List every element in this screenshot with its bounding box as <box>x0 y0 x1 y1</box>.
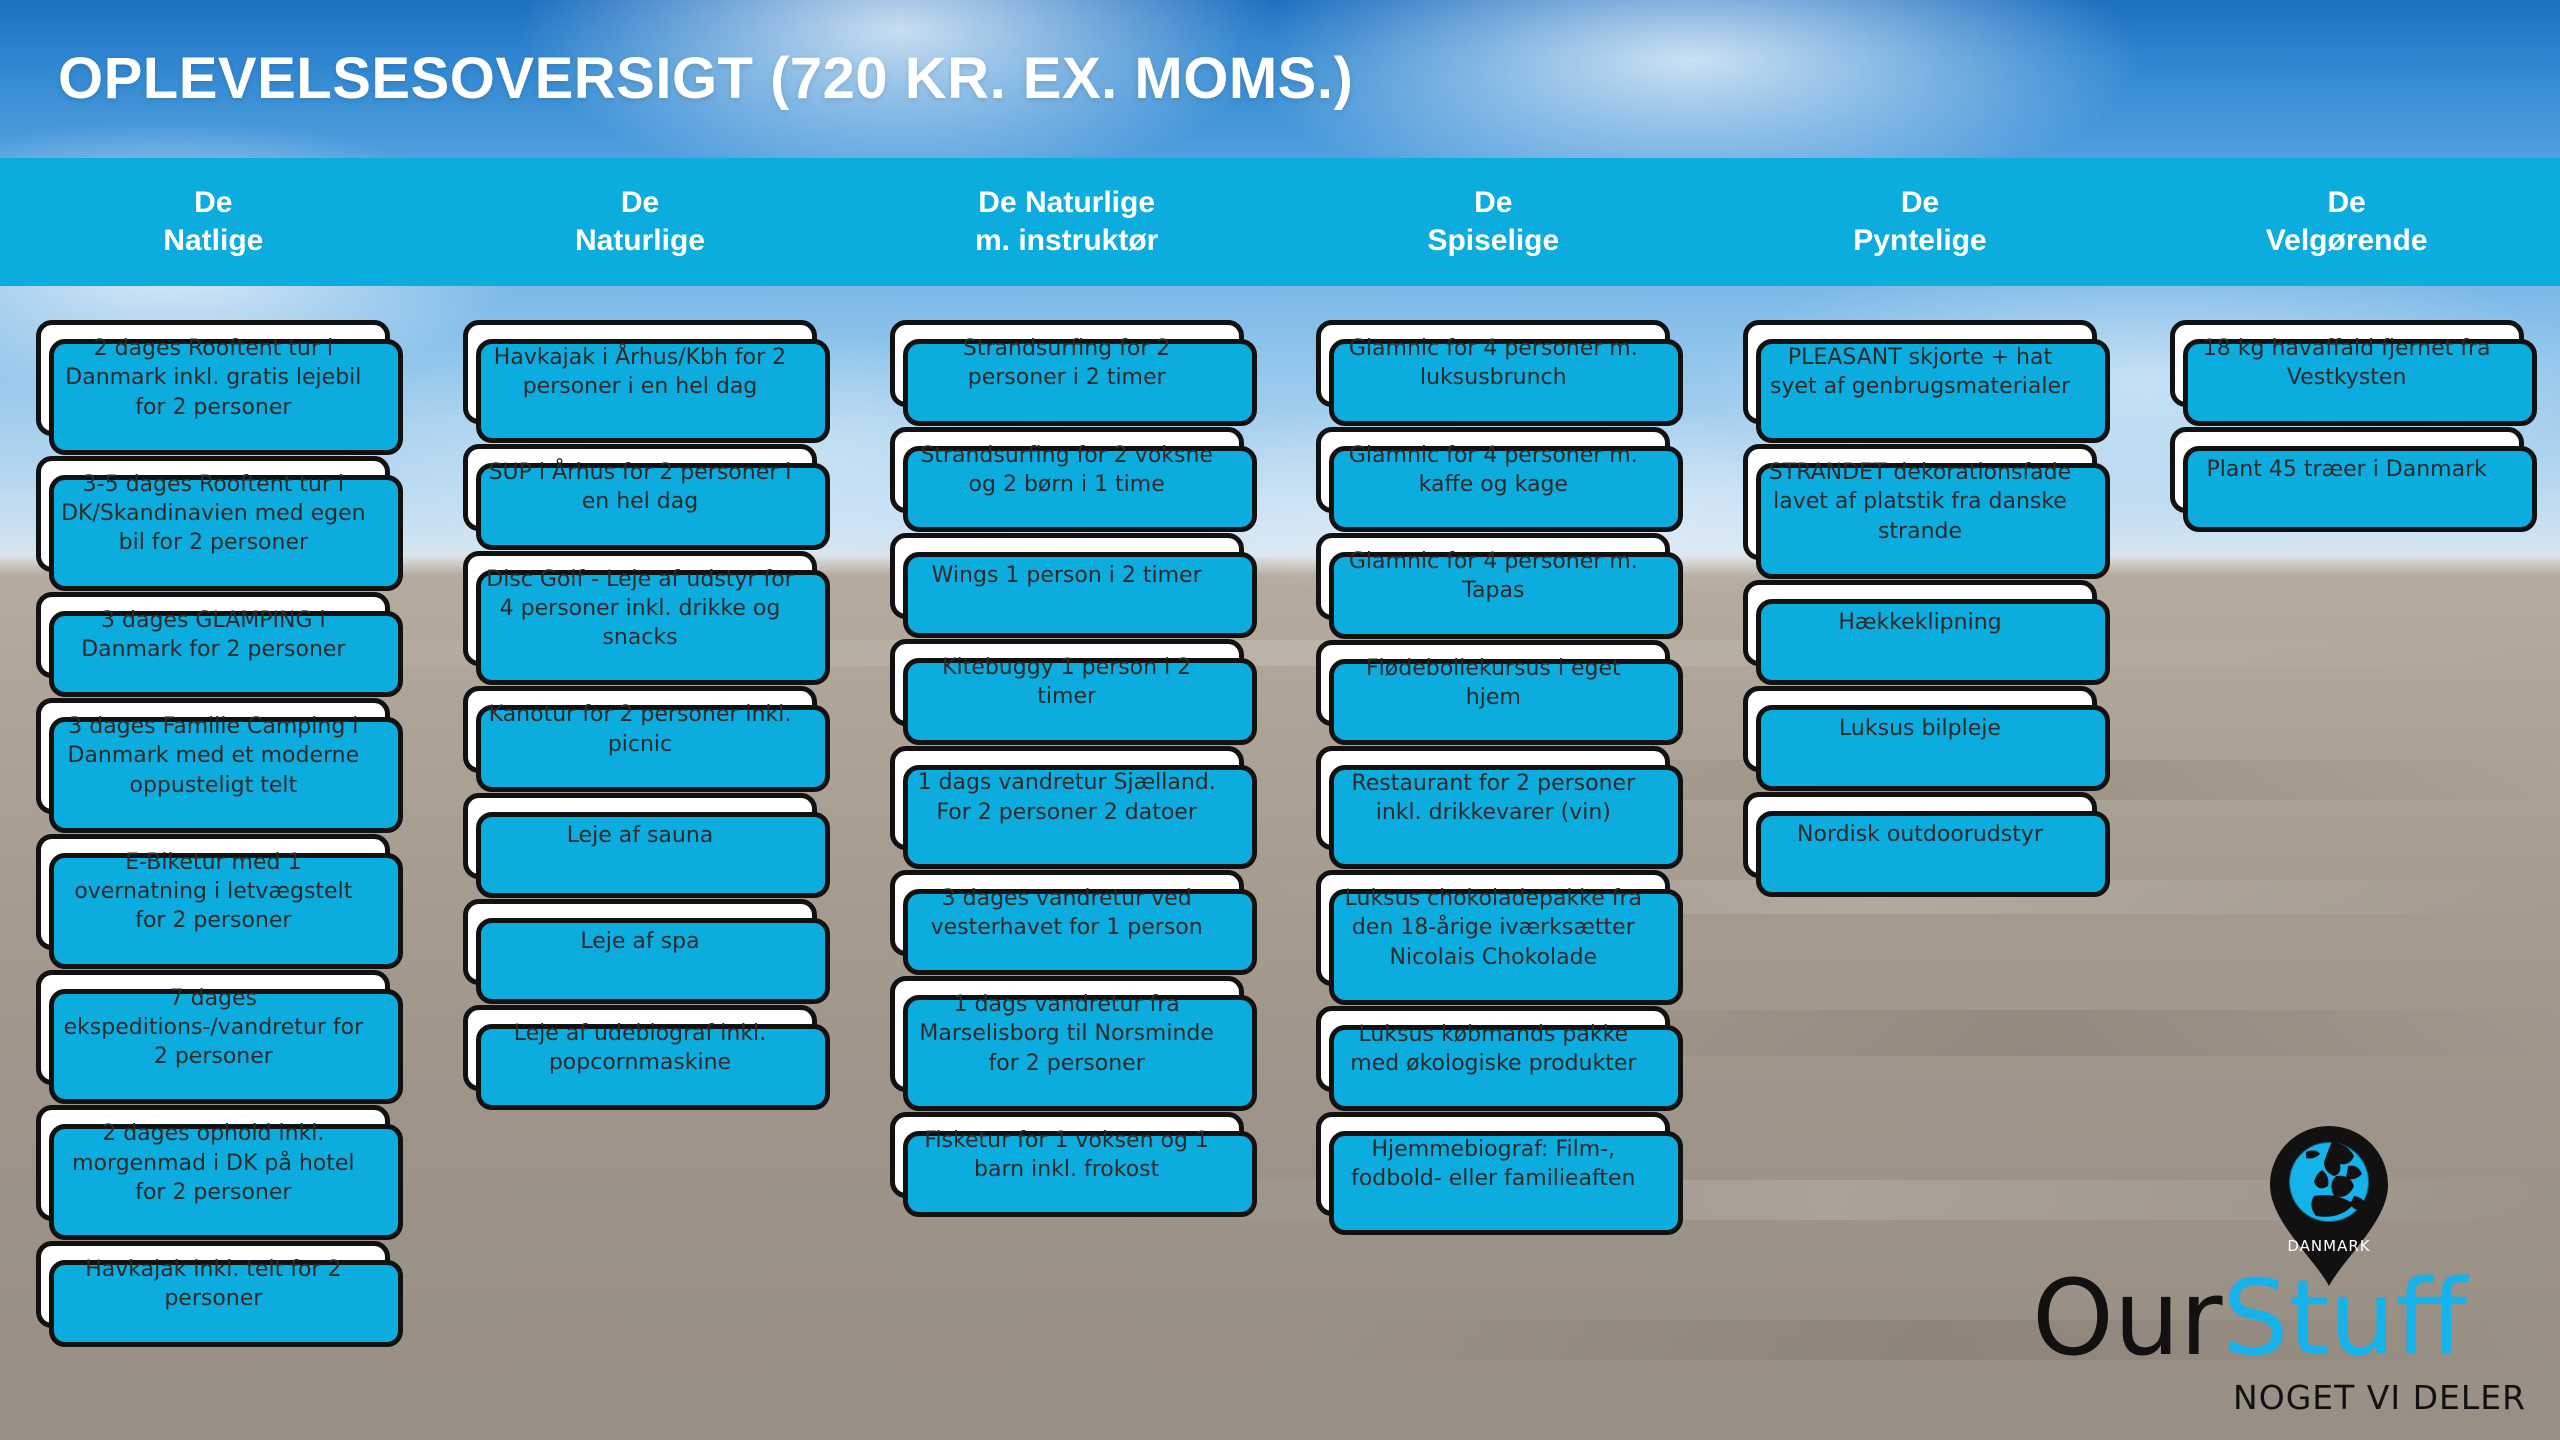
page-title: OPLEVELSESOVERSIGT (720 KR. EX. MOMS.) <box>58 50 1353 108</box>
experience-card-label: Nordisk outdoorudstyr <box>1797 820 2043 849</box>
experience-card-label: 18 kg havaffald fjernet fra Vestkysten <box>2191 334 2503 393</box>
experience-card-label: Fisketur for 1 voksen og 1 barn inkl. fr… <box>911 1126 1223 1185</box>
experience-card[interactable]: Leje af udebiograf inkl. popcornmaskine <box>463 1005 817 1092</box>
experience-card-label: Strandsurfing for 2 voksne og 2 børn i 1… <box>911 441 1223 500</box>
experience-card[interactable]: Luksus bilpleje <box>1743 686 2097 772</box>
experience-card[interactable]: SUP i Århus for 2 personer i en hel dag <box>463 444 817 531</box>
experience-card-label: 2 dages ophold inkl. morgenmad i DK på h… <box>57 1119 369 1207</box>
experience-card-label: Disc Golf - Leje af udstyr for 4 persone… <box>484 565 796 653</box>
logo-tagline: NOGET VI DELER <box>2032 1378 2532 1417</box>
pin-label: DANMARK <box>2287 1237 2370 1255</box>
experience-card[interactable]: Hjemmebiograf: Film-, fodbold- eller fam… <box>1316 1112 1670 1216</box>
experience-card-label: STRANDET dekorationsfade lavet af platst… <box>1764 458 2076 546</box>
experience-card[interactable]: Restaurant for 2 personer inkl. drikkeva… <box>1316 746 1670 850</box>
experience-card-label: Kanotur for 2 personer inkl. picnic <box>484 700 796 759</box>
experience-card-label: 3 dages GLAMPING i Danmark for 2 persone… <box>57 606 369 665</box>
experience-card[interactable]: 2 dages ophold inkl. morgenmad i DK på h… <box>36 1105 390 1221</box>
column-header-line1: De <box>1901 184 1939 222</box>
column-header-line1: De <box>621 184 659 222</box>
experience-card-label: Luksus købmands pakke med økologiske pro… <box>1337 1020 1649 1079</box>
column-header-naturlige: De Naturlige <box>427 158 854 286</box>
experience-card-label: Hækkeklipning <box>1838 608 2001 637</box>
experience-card[interactable]: STRANDET dekorationsfade lavet af platst… <box>1743 444 2097 560</box>
experience-card[interactable]: Strandsurfing for 2 voksne og 2 børn i 1… <box>890 427 1244 514</box>
experience-card-label: Kitebuggy 1 person i 2 timer <box>911 653 1223 712</box>
column-header-pyntelige: De Pyntelige <box>1707 158 2134 286</box>
experience-card[interactable]: 3 dages GLAMPING i Danmark for 2 persone… <box>36 592 390 679</box>
experience-card-label: 3 dages vandretur ved vesterhavet for 1 … <box>911 884 1223 943</box>
column-header-line1: De <box>194 184 232 222</box>
experience-card[interactable]: Hækkeklipning <box>1743 580 2097 666</box>
column-header-line2: m. instruktør <box>975 222 1158 260</box>
experience-card[interactable]: Kanotur for 2 personer inkl. picnic <box>463 686 817 773</box>
experience-card-label: PLEASANT skjorte + hat syet af genbrugsm… <box>1764 343 2076 402</box>
logo-wordmark: OurStuff <box>2032 1266 2532 1370</box>
experience-card-label: 2 dages Rooftent tur i Danmark inkl. gra… <box>57 334 369 422</box>
experience-card[interactable]: PLEASANT skjorte + hat syet af genbrugsm… <box>1743 320 2097 424</box>
experience-card[interactable]: 1 dags vandretur Sjælland. For 2 persone… <box>890 746 1244 850</box>
experience-card[interactable]: Havkajak inkl. telt for 2 personer <box>36 1241 390 1328</box>
experience-card-label: Hjemmebiograf: Film-, fodbold- eller fam… <box>1337 1135 1649 1194</box>
experience-card[interactable]: 3-5 dages Rooftent tur i DK/Skandinavien… <box>36 456 390 572</box>
experience-card-label: Leje af udebiograf inkl. popcornmaskine <box>484 1019 796 1078</box>
experience-card[interactable]: Luksus chokoladepakke fra den 18-årige i… <box>1316 870 1670 986</box>
experience-card-label: 3-5 dages Rooftent tur i DK/Skandinavien… <box>57 470 369 558</box>
experience-card-label: Luksus chokoladepakke fra den 18-årige i… <box>1337 884 1649 972</box>
experience-card[interactable]: 3 dages Familie Camping i Danmark med et… <box>36 698 390 814</box>
experience-card-label: Glamnic for 4 personer m. Tapas <box>1337 547 1649 606</box>
experience-card-label: Leje af sauna <box>567 821 714 850</box>
experience-card[interactable]: 18 kg havaffald fjernet fra Vestkysten <box>2170 320 2524 407</box>
experience-card-label: Luksus bilpleje <box>1839 714 2001 743</box>
column-header-line2: Pyntelige <box>1853 222 1986 260</box>
experience-card[interactable]: 3 dages vandretur ved vesterhavet for 1 … <box>890 870 1244 957</box>
experience-card-label: 3 dages Familie Camping i Danmark med et… <box>57 712 369 800</box>
poster-canvas: OPLEVELSESOVERSIGT (720 KR. EX. MOMS.) D… <box>0 0 2560 1440</box>
experience-card-label: Glamnic for 4 personer m. luksusbrunch <box>1337 334 1649 393</box>
experience-column: Glamnic for 4 personer m. luksusbrunchGl… <box>1280 320 1707 1328</box>
experience-card[interactable]: Disc Golf - Leje af udstyr for 4 persone… <box>463 551 817 667</box>
experience-card[interactable]: E-Biketur med 1 overnatning i letvægstel… <box>36 834 390 950</box>
column-header-spiselige: De Spiselige <box>1280 158 1707 286</box>
experience-card[interactable]: Nordisk outdoorudstyr <box>1743 792 2097 878</box>
experience-card-label: Flødebollekursus i eget hjem <box>1337 654 1649 713</box>
experience-column: Strandsurfing for 2 personer i 2 timerSt… <box>853 320 1280 1328</box>
column-header-line1: De Naturlige <box>978 184 1155 222</box>
column-header-strip: De Natlige De Naturlige De Naturlige m. … <box>0 158 2560 286</box>
experience-card-label: SUP i Århus for 2 personer i en hel dag <box>484 458 796 517</box>
experience-card[interactable]: Wings 1 person i 2 timer <box>890 533 1244 619</box>
experience-card[interactable]: Plant 45 træer i Danmark <box>2170 427 2524 513</box>
experience-card[interactable]: Leje af sauna <box>463 793 817 879</box>
experience-card-label: E-Biketur med 1 overnatning i letvægstel… <box>57 848 369 936</box>
column-header-velgorende: De Velgørende <box>2133 158 2560 286</box>
experience-card[interactable]: 1 dags vandretur fra Marselisborg til No… <box>890 976 1244 1092</box>
experience-card[interactable]: Glamnic for 4 personer m. kaffe og kage <box>1316 427 1670 514</box>
experience-card[interactable]: Fisketur for 1 voksen og 1 barn inkl. fr… <box>890 1112 1244 1199</box>
experience-card[interactable]: Strandsurfing for 2 personer i 2 timer <box>890 320 1244 407</box>
column-header-natlige: De Natlige <box>0 158 427 286</box>
experience-card[interactable]: Glamnic for 4 personer m. luksusbrunch <box>1316 320 1670 407</box>
experience-card-label: Havkajak inkl. telt for 2 personer <box>57 1255 369 1314</box>
experience-card[interactable]: Kitebuggy 1 person i 2 timer <box>890 639 1244 726</box>
experience-card[interactable]: Glamnic for 4 personer m. Tapas <box>1316 533 1670 620</box>
column-header-line1: De <box>1474 184 1512 222</box>
experience-card[interactable]: Havkajak i Århus/Kbh for 2 personer i en… <box>463 320 817 424</box>
experience-card-label: Havkajak i Århus/Kbh for 2 personer i en… <box>484 343 796 402</box>
ourstuff-logo: DANMARK OurStuff NOGET VI DELER <box>2032 1126 2532 1426</box>
experience-card-label: Wings 1 person i 2 timer <box>932 561 1202 590</box>
experience-card-label: Plant 45 træer i Danmark <box>2206 455 2486 484</box>
experience-card-label: 7 dages ekspeditions-/vandretur for 2 pe… <box>57 984 369 1072</box>
column-header-line2: Naturlige <box>575 222 705 260</box>
column-header-line1: De <box>2327 184 2365 222</box>
logo-word-stuff: Stuff <box>2223 1257 2467 1379</box>
experience-card-label: Glamnic for 4 personer m. kaffe og kage <box>1337 441 1649 500</box>
experience-card-label: Leje af spa <box>580 927 699 956</box>
column-header-line2: Natlige <box>163 222 263 260</box>
experience-card-label: Strandsurfing for 2 personer i 2 timer <box>911 334 1223 393</box>
column-header-line2: Velgørende <box>2266 222 2428 260</box>
experience-card-label: 1 dags vandretur fra Marselisborg til No… <box>911 990 1223 1078</box>
experience-card[interactable]: Luksus købmands pakke med økologiske pro… <box>1316 1006 1670 1093</box>
experience-card-label: 1 dags vandretur Sjælland. For 2 persone… <box>911 768 1223 827</box>
column-header-line2: Spiselige <box>1427 222 1559 260</box>
experience-card[interactable]: 2 dages Rooftent tur i Danmark inkl. gra… <box>36 320 390 436</box>
column-header-naturlige-instruktor: De Naturlige m. instruktør <box>853 158 1280 286</box>
experience-column: Havkajak i Århus/Kbh for 2 personer i en… <box>427 320 854 1328</box>
experience-column: 2 dages Rooftent tur i Danmark inkl. gra… <box>0 320 427 1328</box>
experience-card[interactable]: Flødebollekursus i eget hjem <box>1316 640 1670 727</box>
experience-card[interactable]: Leje af spa <box>463 899 817 985</box>
experience-card[interactable]: 7 dages ekspeditions-/vandretur for 2 pe… <box>36 970 390 1086</box>
experience-card-label: Restaurant for 2 personer inkl. drikkeva… <box>1337 769 1649 828</box>
logo-word-our: Our <box>2032 1257 2223 1379</box>
title-bar: OPLEVELSESOVERSIGT (720 KR. EX. MOMS.) <box>0 0 2560 158</box>
